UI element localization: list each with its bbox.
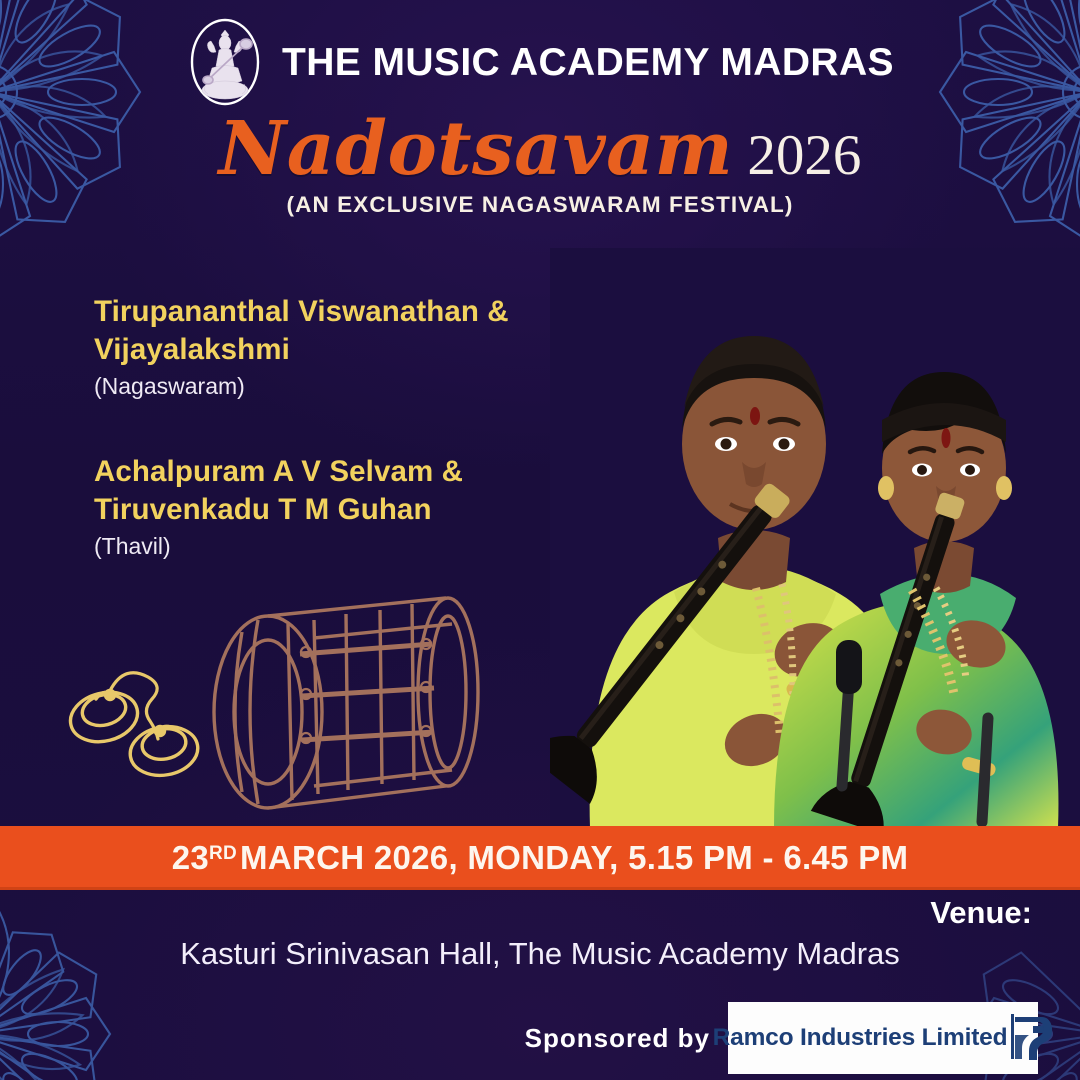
performer-name: Tirupananthal Viswanathan & Vijayalakshm… <box>94 293 564 369</box>
venue-section: Venue: Kasturi Srinivasan Hall, The Musi… <box>0 896 1080 972</box>
jalra-cymbals-illustration <box>60 655 220 790</box>
saraswati-veena-emblem-icon <box>186 16 264 108</box>
sponsor-name: Ramco Industries Limited <box>713 1024 1008 1052</box>
date-rest: MARCH 2026, MONDAY, 5.15 PM - 6.45 PM <box>240 839 908 877</box>
date-ordinal: RD <box>209 843 237 865</box>
date-banner: 23RDMARCH 2026, MONDAY, 5.15 PM - 6.45 P… <box>0 826 1080 890</box>
performer-entry: Tirupananthal Viswanathan & Vijayalakshm… <box>94 293 564 401</box>
festival-year: 2026 <box>747 127 861 184</box>
festival-name: Nadotsavam <box>219 112 734 186</box>
organization-title: THE MUSIC ACADEMY MADRAS <box>282 43 894 82</box>
sponsored-by-label: Sponsored by <box>525 1023 710 1054</box>
performer-instrument: (Nagaswaram) <box>94 372 564 402</box>
date-day: 23 <box>172 839 209 877</box>
festival-subtitle: (AN EXCLUSIVE NAGASWARAM FESTIVAL) <box>0 192 1080 218</box>
date-banner-text: 23RDMARCH 2026, MONDAY, 5.15 PM - 6.45 P… <box>172 839 909 877</box>
performer-instrument: (Thavil) <box>94 532 564 562</box>
performer-entry: Achalpuram A V Selvam & Tiruvenkadu T M … <box>94 453 564 561</box>
brand-row: THE MUSIC ACADEMY MADRAS <box>0 16 1080 108</box>
performers-list: Tirupananthal Viswanathan & Vijayalakshm… <box>94 293 564 614</box>
venue-value: Kasturi Srinivasan Hall, The Music Acade… <box>0 936 1080 972</box>
thavil-drum-illustration <box>196 580 516 835</box>
sponsor-logo: Ramco Industries Limited <box>728 1002 1038 1074</box>
festival-title-row: Nadotsavam 2026 <box>0 112 1080 186</box>
performer-name: Achalpuram A V Selvam & Tiruvenkadu T M … <box>94 453 564 529</box>
sponsor-section: Sponsored by Ramco Industries Limited <box>0 1002 1080 1074</box>
artists-photo <box>550 248 1080 828</box>
venue-label: Venue: <box>0 896 1080 930</box>
poster-header: THE MUSIC ACADEMY MADRAS Nadotsavam 2026… <box>0 0 1080 218</box>
event-poster: THE MUSIC ACADEMY MADRAS Nadotsavam 2026… <box>0 0 1080 1080</box>
ramco-ribbon-r-logo-icon <box>1011 1011 1057 1066</box>
